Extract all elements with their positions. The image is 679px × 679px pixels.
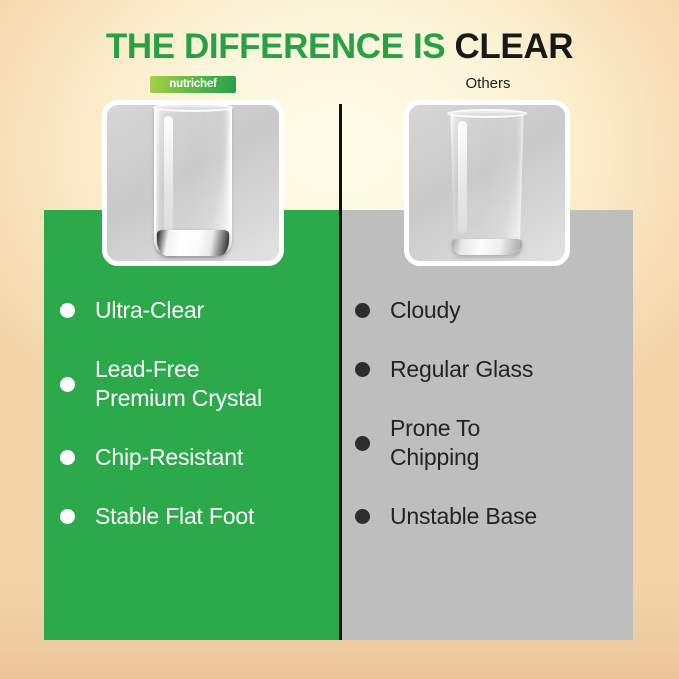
feature-label: Regular Glass xyxy=(390,355,533,384)
bullet-dot-icon xyxy=(355,303,370,318)
list-item: Chip-Resistant xyxy=(60,443,330,472)
bullet-dot-icon xyxy=(355,509,370,524)
glass-rim xyxy=(153,103,233,112)
bullet-dot-icon xyxy=(60,303,75,318)
glass-highlight xyxy=(164,116,173,233)
list-item: Lead-FreePremium Crystal xyxy=(60,355,330,413)
glass-highlight xyxy=(458,121,467,233)
bullet-dot-icon xyxy=(60,377,75,392)
feature-label: Stable Flat Foot xyxy=(95,502,254,531)
list-item: Cloudy xyxy=(355,296,620,325)
list-item: Regular Glass xyxy=(355,355,620,384)
bullet-dot-icon xyxy=(60,509,75,524)
nutrichef-feature-list: Ultra-Clear Lead-FreePremium Crystal Chi… xyxy=(60,296,330,561)
brand-logo-text: nutrichef xyxy=(169,79,216,90)
list-item: Prone ToChipping xyxy=(355,414,620,472)
feature-label: Ultra-Clear xyxy=(95,296,204,325)
glass-body xyxy=(448,111,526,253)
glass-rim xyxy=(447,109,527,118)
brand-logo-badge: nutrichef xyxy=(150,76,236,93)
feature-label: Lead-FreePremium Crystal xyxy=(95,355,262,413)
others-column-label: Others xyxy=(400,74,576,94)
glass-thick-base xyxy=(157,230,229,256)
nutrichef-product-card xyxy=(102,100,284,266)
others-product-card xyxy=(404,100,570,266)
others-glass-image xyxy=(409,105,565,261)
feature-label: Unstable Base xyxy=(390,502,537,531)
glass-illustration xyxy=(154,105,232,253)
list-item: Unstable Base xyxy=(355,502,620,531)
glass-illustration xyxy=(448,111,526,253)
others-feature-list: Cloudy Regular Glass Prone ToChipping Un… xyxy=(355,296,620,561)
glass-thin-base xyxy=(452,239,522,255)
comparison-infographic: THE DIFFERENCE IS CLEAR nutrichef Others xyxy=(0,0,679,679)
feature-label: Prone ToChipping xyxy=(390,414,480,472)
nutrichef-glass-image xyxy=(107,105,279,261)
feature-label: Cloudy xyxy=(390,296,460,325)
feature-label: Chip-Resistant xyxy=(95,443,243,472)
title-black-part: CLEAR xyxy=(455,27,574,66)
list-item: Ultra-Clear xyxy=(60,296,330,325)
bullet-dot-icon xyxy=(60,450,75,465)
title-green-part: THE DIFFERENCE IS xyxy=(106,27,445,66)
page-title: THE DIFFERENCE IS CLEAR xyxy=(0,26,679,68)
bullet-dot-icon xyxy=(355,436,370,451)
list-item: Stable Flat Foot xyxy=(60,502,330,531)
bullet-dot-icon xyxy=(355,362,370,377)
